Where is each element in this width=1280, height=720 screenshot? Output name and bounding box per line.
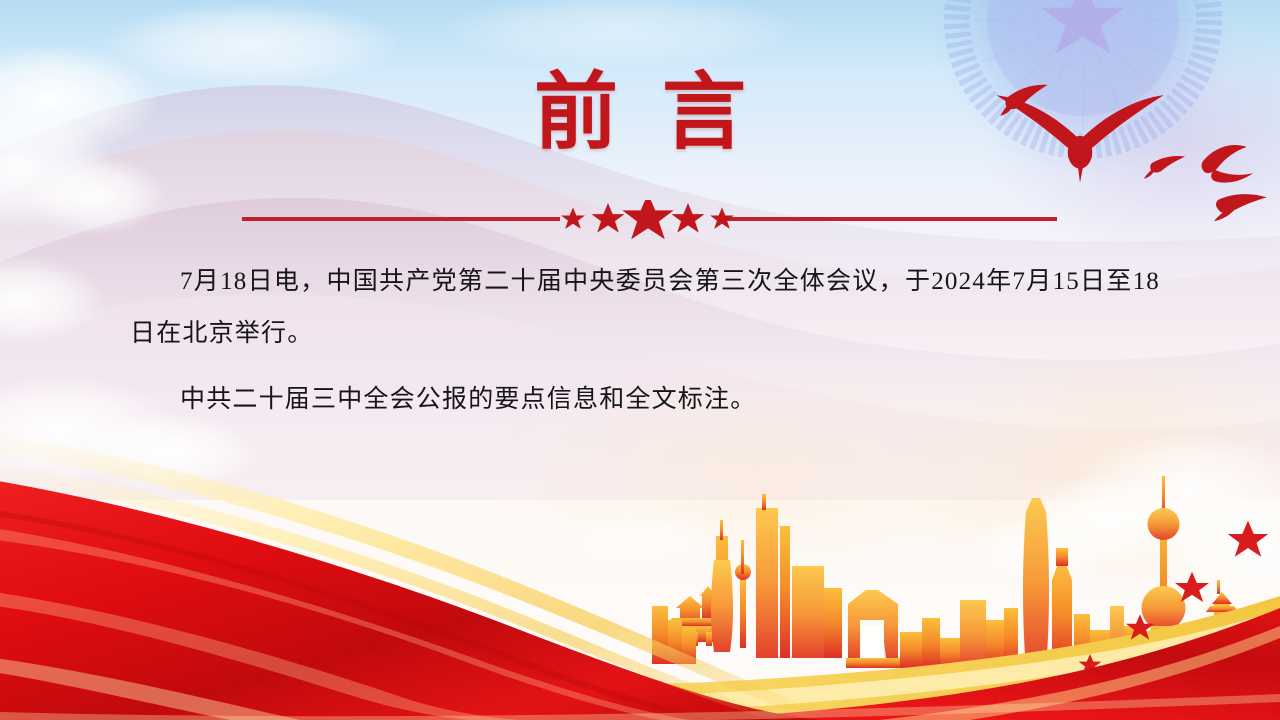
bottom-decoration bbox=[0, 420, 1280, 720]
star-large-center bbox=[622, 200, 673, 239]
page-title: 前言 bbox=[490, 72, 790, 156]
title-container: 前言 bbox=[0, 72, 1280, 156]
star-medium-right bbox=[672, 203, 705, 233]
divider-line-left bbox=[242, 217, 560, 221]
dove-icon bbox=[1144, 156, 1185, 179]
left-red-ribbon bbox=[0, 434, 830, 720]
paragraph-2: 中共二十届三中全会公报的要点信息和全文标注。 bbox=[130, 374, 1160, 426]
body-text-block: 7月18日电，中国共产党第二十届中央委员会第三次全体会议，于2024年7月15日… bbox=[130, 256, 1160, 426]
divider-stars bbox=[561, 200, 734, 239]
paragraph-1: 7月18日电，中国共产党第二十届中央委员会第三次全体会议，于2024年7月15日… bbox=[130, 256, 1160, 360]
divider bbox=[0, 200, 1280, 240]
star-medium-left bbox=[592, 203, 625, 233]
star-small-left bbox=[561, 208, 585, 229]
divider-line-right bbox=[722, 217, 1057, 221]
slide-canvas: 前言 7月18日电，中国共产党第二十届中央委员会第三次全体会议，于2024年7月… bbox=[0, 0, 1280, 720]
